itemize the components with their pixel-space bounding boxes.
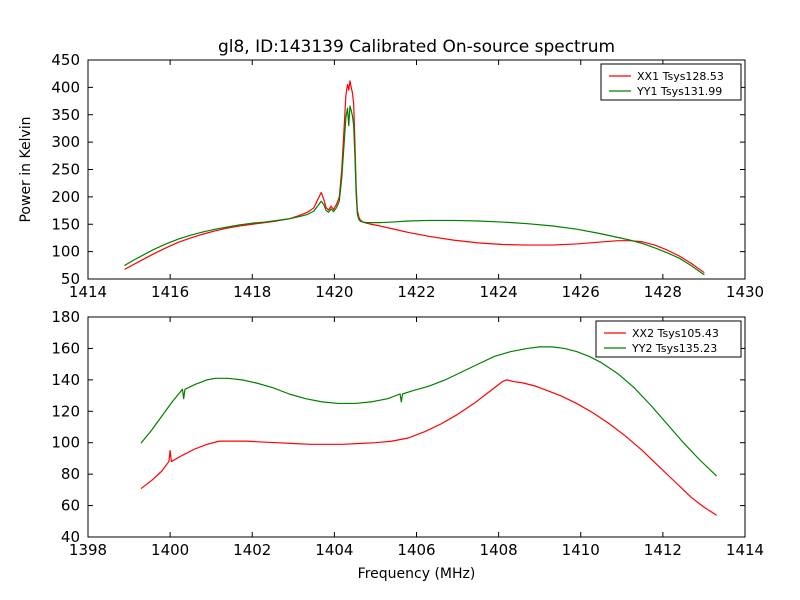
x-tick-label-1406: 1406 [397,541,435,559]
legend-bottom: XX2 Tsys105.43YY2 Tsys135.23 [596,321,741,357]
y-tick-label-100: 100 [51,434,80,452]
x-tick-label-1414: 1414 [726,541,764,559]
y-tick-label-250: 250 [51,161,80,179]
x-tick-label-1402: 1402 [233,541,271,559]
y-tick-label-80: 80 [61,465,80,483]
y-tick-label-60: 60 [61,497,80,515]
y-tick-label-350: 350 [51,106,80,124]
x-tick-label-1430: 1430 [726,283,764,301]
y-tick-label-400: 400 [51,78,80,96]
legend-label: XX2 Tsys105.43 [632,327,719,340]
legend-top: XX1 Tsys128.53YY1 Tsys131.99 [601,64,741,100]
x-tick-label-1424: 1424 [480,283,518,301]
legend-label: XX1 Tsys128.53 [637,70,724,83]
y-tick-label-150: 150 [51,215,80,233]
panel-bottom: 1398140014021404140614081410141214144060… [51,308,764,559]
legend-label: YY2 Tsys135.23 [631,342,717,355]
y-tick-label-160: 160 [51,339,80,357]
curve-xx1 [125,81,704,273]
curve-yy1 [125,106,704,275]
spectrum-figure: 1414141614181420142214241426142814305010… [0,0,800,600]
y-tick-label-450: 450 [51,51,80,69]
y-tick-label-140: 140 [51,371,80,389]
y-tick-label-300: 300 [51,133,80,151]
chart-title: gl8, ID:143139 Calibrated On-source spec… [218,37,615,57]
y-tick-label-120: 120 [51,402,80,420]
y-tick-label-180: 180 [51,308,80,326]
x-tick-label-1408: 1408 [480,541,518,559]
x-tick-label-1418: 1418 [233,283,271,301]
curve-xx2 [141,380,716,515]
x-tick-label-1412: 1412 [644,541,682,559]
y-tick-label-40: 40 [61,528,80,546]
curve-yy2 [141,347,716,476]
y-tick-label-100: 100 [51,243,80,261]
x-axis-label: Frequency (MHz) [358,566,476,582]
y-tick-label-200: 200 [51,188,80,206]
y-axis-label: Power in Kelvin [18,116,34,222]
x-tick-label-1410: 1410 [562,541,600,559]
x-tick-label-1416: 1416 [151,283,189,301]
x-tick-label-1428: 1428 [644,283,682,301]
x-tick-label-1422: 1422 [397,283,435,301]
x-tick-label-1420: 1420 [315,283,353,301]
panel-top: 1414141614181420142214241426142814305010… [51,51,764,301]
y-tick-label-50: 50 [61,270,80,288]
x-tick-label-1400: 1400 [151,541,189,559]
legend-label: YY1 Tsys131.99 [636,85,722,98]
x-tick-label-1426: 1426 [562,283,600,301]
x-tick-label-1404: 1404 [315,541,353,559]
